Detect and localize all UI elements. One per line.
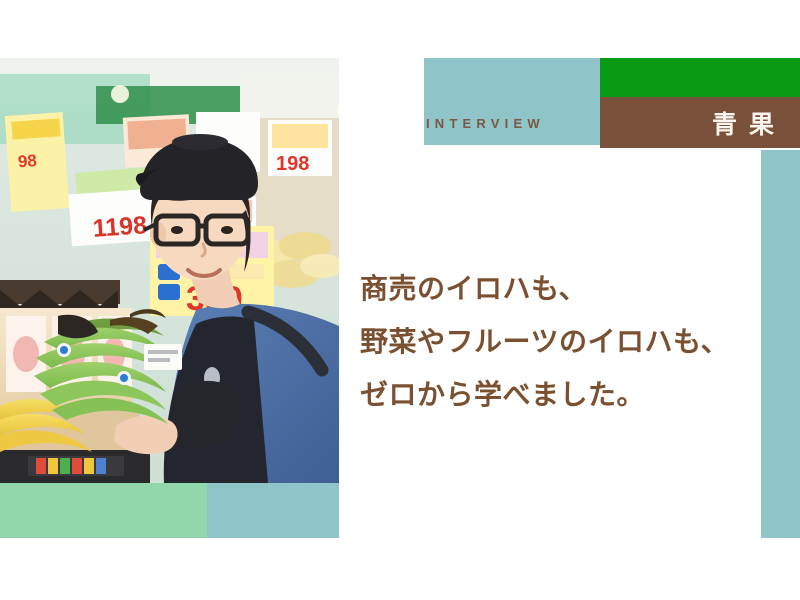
category-tag-label: 青果 bbox=[600, 97, 800, 148]
svg-text:198: 198 bbox=[276, 153, 309, 175]
interview-photo: 98 58 198 1198 bbox=[0, 58, 339, 483]
photo-illustration: 98 58 198 1198 bbox=[0, 58, 339, 483]
interview-banner: 98 58 198 1198 bbox=[0, 0, 800, 600]
headline-line-2: 野菜やフルーツのイロハも、 bbox=[360, 315, 770, 368]
decor-block-teal-top bbox=[424, 58, 600, 145]
decor-block-green-top bbox=[600, 58, 800, 97]
headline-line-3: ゼロから学べました。 bbox=[360, 368, 770, 421]
svg-text:1198: 1198 bbox=[92, 211, 148, 243]
decor-block-teal-bottom bbox=[207, 483, 339, 538]
eyebrow-label: INTERVIEW bbox=[426, 116, 545, 131]
headline-line-1: 商売のイロハも、 bbox=[360, 262, 770, 315]
decor-block-green-bottom bbox=[0, 483, 207, 538]
headline: 商売のイロハも、 野菜やフルーツのイロハも、 ゼロから学べました。 bbox=[360, 262, 770, 421]
svg-text:98: 98 bbox=[17, 151, 37, 171]
